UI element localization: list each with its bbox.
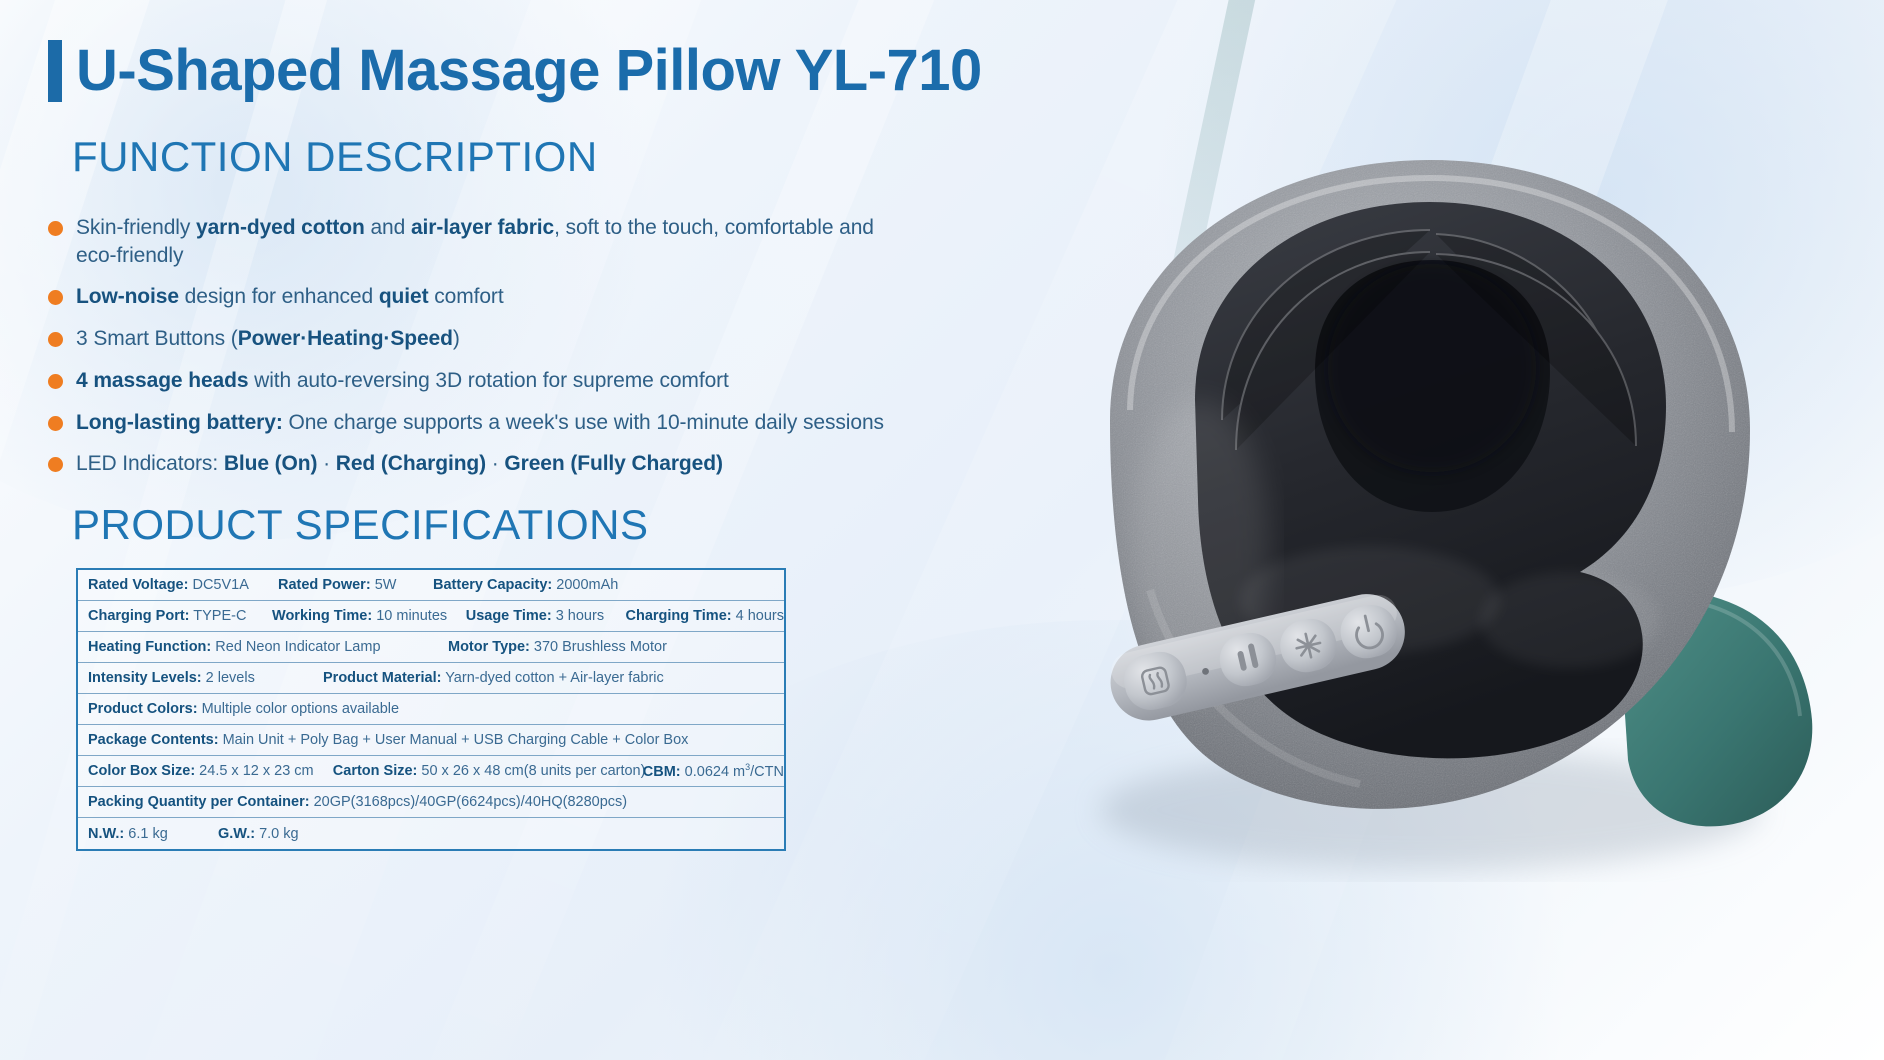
spec-label: Package Contents:	[88, 732, 219, 748]
bullet-dot-icon	[48, 332, 63, 347]
spec-label: Rated Voltage:	[88, 577, 188, 593]
spec-label: Charging Port:	[88, 608, 190, 624]
feature-item: 3 Smart Buttons (Power·Heating·Speed)	[48, 325, 888, 353]
feature-text: Skin-friendly yarn-dyed cotton and air-l…	[76, 214, 888, 269]
spec-label: Usage Time:	[466, 608, 552, 624]
spec-value: Multiple color options available	[198, 701, 400, 717]
spec-cell: G.W.: 7.0 kg	[218, 826, 299, 842]
spec-label: Product Colors:	[88, 701, 198, 717]
title-accent-bar	[48, 40, 62, 102]
spec-cell: Intensity Levels: 2 levels	[88, 670, 323, 686]
spec-label: Rated Power:	[278, 577, 371, 593]
spec-value: 50 x 26 x 48 cm(8 units per carton)	[417, 763, 645, 779]
feature-item: Long-lasting battery: One charge support…	[48, 409, 888, 437]
spec-value: 10 minutes	[372, 608, 447, 624]
spec-cell: Working Time: 10 minutes	[272, 608, 466, 624]
product-title: U-Shaped Massage Pillow YL-710	[76, 42, 982, 100]
spec-value: 3 hours	[552, 608, 604, 624]
spec-cell: Charging Time: 4 hours	[626, 608, 784, 624]
spec-label: N.W.:	[88, 826, 124, 842]
spec-label: Charging Time:	[626, 608, 732, 624]
function-description-heading: FUNCTION DESCRIPTION	[72, 136, 1000, 178]
specifications-table: Rated Voltage: DC5V1ARated Power: 5WBatt…	[76, 568, 786, 851]
bullet-dot-icon	[48, 290, 63, 305]
spec-value: 20GP(3168pcs)/40GP(6624pcs)/40HQ(8280pcs…	[310, 794, 628, 810]
spec-value: 6.1 kg	[124, 826, 168, 842]
spec-value: 2 levels	[202, 670, 255, 686]
spec-value: TYPE-C	[190, 608, 247, 624]
spec-cell: N.W.: 6.1 kg	[88, 826, 218, 842]
spec-label: Battery Capacity:	[433, 577, 552, 593]
spec-cell: Color Box Size: 24.5 x 12 x 23 cm	[88, 763, 333, 779]
spec-label: CBM:	[643, 764, 681, 780]
feature-text: Long-lasting battery: One charge support…	[76, 409, 884, 437]
spec-cell: Charging Port: TYPE-C	[88, 608, 272, 624]
spec-row: Packing Quantity per Container: 20GP(316…	[78, 787, 784, 818]
spec-row: Package Contents: Main Unit + Poly Bag +…	[78, 725, 784, 756]
spec-label: Product Material:	[323, 670, 441, 686]
spec-label: Carton Size:	[333, 763, 418, 779]
spec-label: Color Box Size:	[88, 763, 195, 779]
spec-row: Color Box Size: 24.5 x 12 x 23 cmCarton …	[78, 756, 784, 787]
spec-value: 370 Brushless Motor	[530, 639, 667, 655]
feature-item: LED Indicators: Blue (On) · Red (Chargin…	[48, 450, 888, 478]
spec-cell: Packing Quantity per Container: 20GP(316…	[88, 794, 627, 810]
spec-cell: CBM: 0.0624 m3/CTN	[643, 762, 784, 780]
feature-text: 4 massage heads with auto-reversing 3D r…	[76, 367, 729, 395]
spec-value: 4 hours	[732, 608, 784, 624]
spec-value: Yarn-dyed cotton + Air-layer fabric	[441, 670, 663, 686]
feature-item: Low-noise design for enhanced quiet comf…	[48, 283, 888, 311]
spec-row: Charging Port: TYPE-CWorking Time: 10 mi…	[78, 601, 784, 632]
spec-cell: Heating Function: Red Neon Indicator Lam…	[88, 639, 448, 655]
page-title: U-Shaped Massage Pillow YL-710	[48, 40, 1000, 102]
bullet-dot-icon	[48, 374, 63, 389]
bullet-dot-icon	[48, 221, 63, 236]
spec-cell: Rated Voltage: DC5V1A	[88, 577, 278, 593]
spec-cell: Carton Size: 50 x 26 x 48 cm(8 units per…	[333, 763, 643, 779]
spec-row: Intensity Levels: 2 levelsProduct Materi…	[78, 663, 784, 694]
spec-cell: Product Material: Yarn-dyed cotton + Air…	[323, 670, 664, 686]
spec-cell: Product Colors: Multiple color options a…	[88, 701, 399, 717]
bullet-dot-icon	[48, 457, 63, 472]
spec-row: N.W.: 6.1 kgG.W.: 7.0 kg	[78, 818, 784, 849]
spec-value: Main Unit + Poly Bag + User Manual + USB…	[219, 732, 689, 748]
spec-label: Intensity Levels:	[88, 670, 202, 686]
spec-value: 0.0624 m3/CTN	[681, 764, 784, 780]
spec-cell: Battery Capacity: 2000mAh	[433, 577, 618, 593]
spec-label: Heating Function:	[88, 639, 211, 655]
feature-item: Skin-friendly yarn-dyed cotton and air-l…	[48, 214, 888, 269]
product-specifications-heading: PRODUCT SPECIFICATIONS	[72, 504, 1000, 546]
spec-value: DC5V1A	[188, 577, 248, 593]
bullet-dot-icon	[48, 416, 63, 431]
spec-value: 5W	[371, 577, 397, 593]
feature-text: LED Indicators: Blue (On) · Red (Chargin…	[76, 450, 723, 478]
spec-label: Packing Quantity per Container:	[88, 794, 310, 810]
product-photo	[960, 120, 1884, 940]
spec-value: 24.5 x 12 x 23 cm	[195, 763, 313, 779]
spec-row: Rated Voltage: DC5V1ARated Power: 5WBatt…	[78, 570, 784, 601]
spec-cell: Usage Time: 3 hours	[466, 608, 626, 624]
content-column: U-Shaped Massage Pillow YL-710 FUNCTION …	[0, 0, 1000, 1060]
neck-pillow-illustration	[960, 120, 1884, 940]
spec-label: G.W.:	[218, 826, 255, 842]
spec-cell: Package Contents: Main Unit + Poly Bag +…	[88, 732, 688, 748]
spec-value: 7.0 kg	[255, 826, 299, 842]
spec-label: Working Time:	[272, 608, 372, 624]
feature-text: Low-noise design for enhanced quiet comf…	[76, 283, 504, 311]
spec-cell: Rated Power: 5W	[278, 577, 433, 593]
spec-row: Heating Function: Red Neon Indicator Lam…	[78, 632, 784, 663]
spec-row: Product Colors: Multiple color options a…	[78, 694, 784, 725]
feature-item: 4 massage heads with auto-reversing 3D r…	[48, 367, 888, 395]
spec-value: Red Neon Indicator Lamp	[211, 639, 380, 655]
feature-text: 3 Smart Buttons (Power·Heating·Speed)	[76, 325, 460, 353]
spec-value: 2000mAh	[552, 577, 618, 593]
spec-label: Motor Type:	[448, 639, 530, 655]
spec-cell: Motor Type: 370 Brushless Motor	[448, 639, 667, 655]
feature-list: Skin-friendly yarn-dyed cotton and air-l…	[48, 214, 888, 478]
